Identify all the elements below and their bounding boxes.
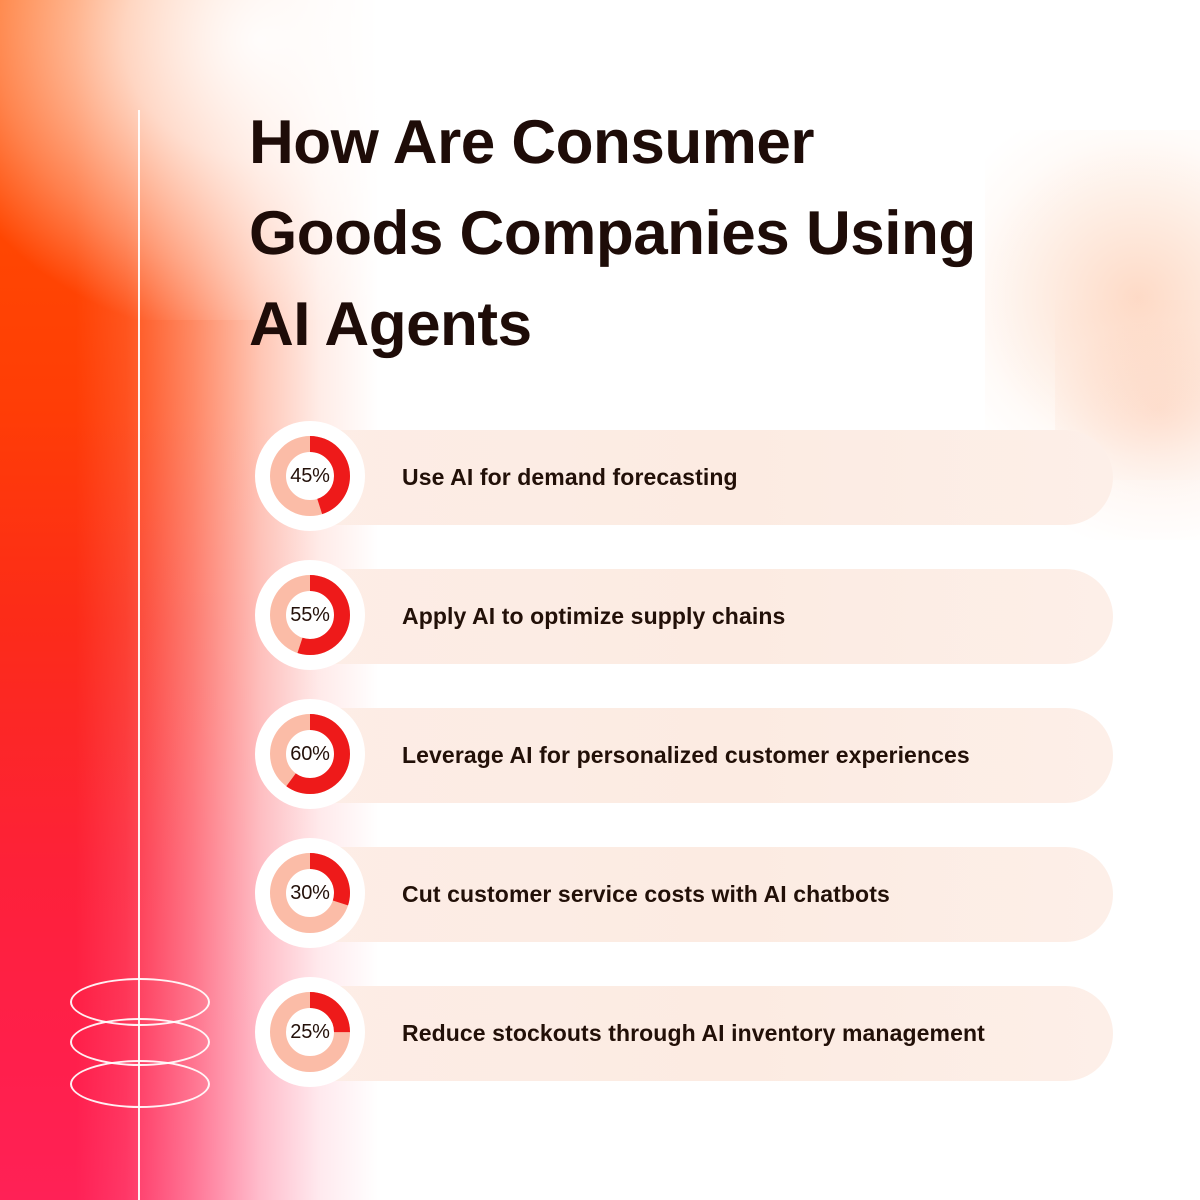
donut-percent-label: 60% bbox=[255, 699, 365, 809]
donut-percent-label: 25% bbox=[255, 977, 365, 1087]
donut-chart-supply-chains: 55% bbox=[255, 560, 365, 670]
stat-list: Use AI for demand forecasting 45% Apply … bbox=[0, 430, 1200, 1125]
stat-row-label: Cut customer service costs with AI chatb… bbox=[402, 847, 890, 942]
list-item: Apply AI to optimize supply chains 55% bbox=[0, 569, 1200, 664]
donut-chart-personalized-experiences: 60% bbox=[255, 699, 365, 809]
donut-percent-label: 30% bbox=[255, 838, 365, 948]
infographic-canvas: How Are Consumer Goods Companies Using A… bbox=[0, 0, 1200, 1200]
list-item: Use AI for demand forecasting 45% bbox=[0, 430, 1200, 525]
stat-row-label: Use AI for demand forecasting bbox=[402, 430, 738, 525]
donut-chart-demand-forecasting: 45% bbox=[255, 421, 365, 531]
list-item: Reduce stockouts through AI inventory ma… bbox=[0, 986, 1200, 1081]
donut-percent-label: 55% bbox=[255, 560, 365, 670]
list-item: Cut customer service costs with AI chatb… bbox=[0, 847, 1200, 942]
stat-row-label: Apply AI to optimize supply chains bbox=[402, 569, 785, 664]
stat-row-label: Leverage AI for personalized customer ex… bbox=[402, 708, 970, 803]
stat-row-label: Reduce stockouts through AI inventory ma… bbox=[402, 986, 985, 1081]
page-title: How Are Consumer Goods Companies Using A… bbox=[249, 97, 1079, 370]
list-item: Leverage AI for personalized customer ex… bbox=[0, 708, 1200, 803]
donut-chart-inventory-management: 25% bbox=[255, 977, 365, 1087]
content-layer: How Are Consumer Goods Companies Using A… bbox=[0, 0, 1200, 1200]
donut-chart-customer-service: 30% bbox=[255, 838, 365, 948]
donut-percent-label: 45% bbox=[255, 421, 365, 531]
